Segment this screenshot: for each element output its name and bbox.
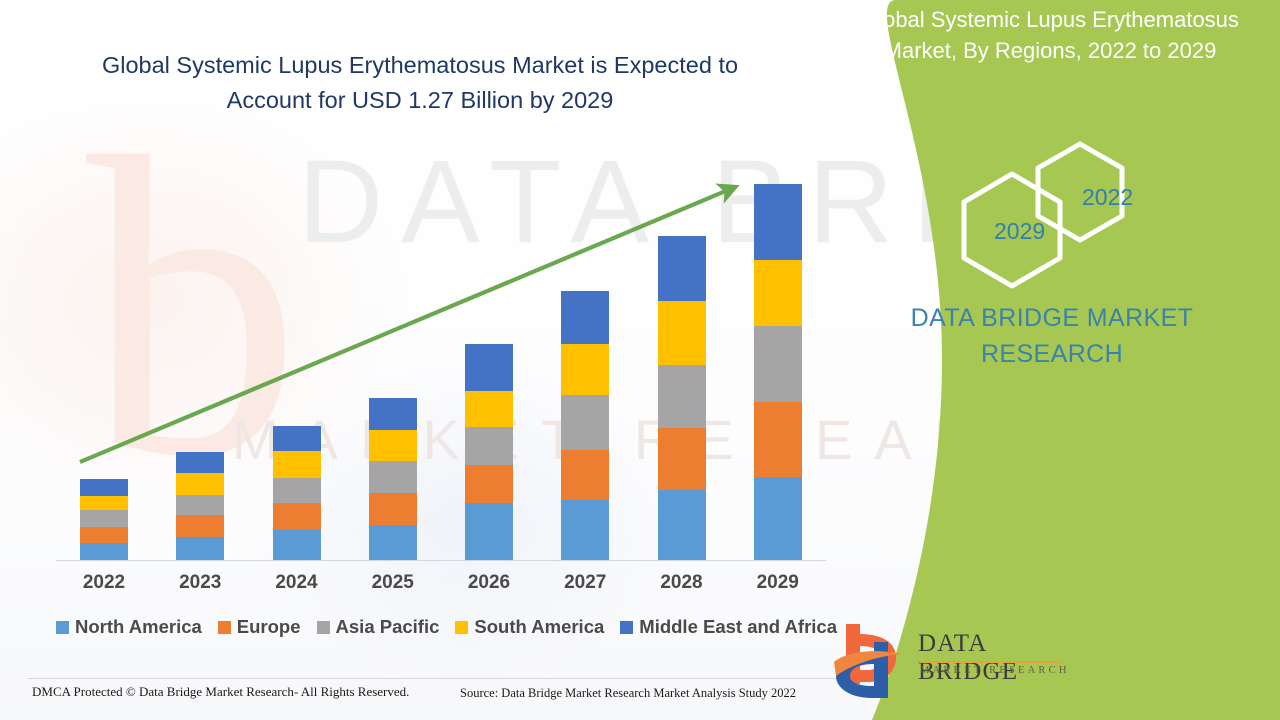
legend-swatch-icon (218, 621, 231, 634)
bar-segment (80, 510, 128, 527)
page-title: Global Systemic Lupus Erythematosus Mark… (62, 48, 778, 118)
legend-item[interactable]: Asia Pacific (317, 616, 440, 638)
bar-segment (658, 428, 706, 490)
hexagon-group: 2022 2029 (960, 140, 1190, 300)
bar-2022 (80, 479, 128, 560)
company-logo: DATA BRIDGE MARKET RESEARCH (830, 620, 1070, 706)
legend-item[interactable]: Europe (218, 616, 301, 638)
bar-segment (176, 495, 224, 515)
bar-segment (658, 301, 706, 364)
bar-segment (561, 344, 609, 394)
bar-2024 (273, 426, 321, 560)
footer-source: Source: Data Bridge Market Research Mark… (460, 686, 796, 701)
bar-2028 (658, 236, 706, 560)
logo-divider (920, 661, 1062, 663)
bar-segment (561, 291, 609, 344)
bar-segment (561, 450, 609, 500)
x-axis-label-2022: 2022 (56, 572, 152, 594)
x-axis-label-2026: 2026 (441, 572, 537, 594)
legend-item[interactable]: Middle East and Africa (620, 616, 837, 638)
bar-segment (80, 496, 128, 510)
x-axis-label-2029: 2029 (730, 572, 826, 594)
x-axis-label-2024: 2024 (249, 572, 345, 594)
legend-label: Europe (237, 616, 301, 638)
bar-segment (754, 477, 802, 560)
bar-segment (176, 515, 224, 537)
bar-segment (273, 451, 321, 478)
legend-swatch-icon (317, 621, 330, 634)
legend-item[interactable]: North America (56, 616, 202, 638)
bar-segment (176, 537, 224, 560)
hexagon-label-end: 2029 (994, 218, 1045, 245)
bar-segment (658, 365, 706, 428)
x-axis-label-2023: 2023 (152, 572, 248, 594)
bar-segment (369, 398, 417, 430)
bar-segment (80, 479, 128, 496)
brand-name: DATA BRIDGE MARKET RESEARCH (842, 300, 1262, 372)
bar-segment (80, 543, 128, 560)
x-axis-label-2025: 2025 (345, 572, 441, 594)
bar-segment (754, 402, 802, 477)
bar-segment (658, 490, 706, 560)
bar-segment (465, 427, 513, 465)
bar-segment (465, 391, 513, 427)
bar-segment (369, 493, 417, 525)
bar-segment (658, 236, 706, 301)
x-axis-labels: 20222023202420252026202720282029 (56, 572, 826, 600)
bar-segment (465, 465, 513, 503)
brand-panel: Global Systemic Lupus Erythematosus Mark… (820, 0, 1280, 720)
logo-wordmark: DATA BRIDGE (918, 630, 1070, 686)
legend-label: Asia Pacific (336, 616, 440, 638)
bar-2027 (561, 291, 609, 560)
bar-segment (369, 525, 417, 560)
brand-panel-title: Global Systemic Lupus Erythematosus Mark… (826, 4, 1274, 66)
legend-swatch-icon (620, 621, 633, 634)
hexagon-label-start: 2022 (1082, 184, 1133, 211)
legend-swatch-icon (56, 621, 69, 634)
chart-legend: North AmericaEuropeAsia PacificSouth Ame… (56, 616, 836, 638)
bar-2029 (754, 184, 802, 560)
legend-label: South America (474, 616, 604, 638)
legend-label: North America (75, 616, 202, 638)
bar-segment (465, 344, 513, 390)
bar-segment (561, 395, 609, 450)
legend-swatch-icon (455, 621, 468, 634)
bar-segment (176, 452, 224, 473)
footer-copyright: DMCA Protected © Data Bridge Market Rese… (32, 684, 409, 700)
bar-segment (754, 326, 802, 401)
stacked-bars (56, 150, 826, 561)
footer-divider (28, 678, 840, 679)
x-axis-label-2028: 2028 (634, 572, 730, 594)
bar-segment (273, 478, 321, 503)
logo-tagline: MARKET RESEARCH (920, 665, 1070, 676)
bar-2026 (465, 344, 513, 560)
data-bridge-mark-icon (830, 620, 920, 702)
x-axis-label-2027: 2027 (537, 572, 633, 594)
bar-segment (369, 430, 417, 461)
legend-item[interactable]: South America (455, 616, 604, 638)
bar-segment (754, 184, 802, 260)
bar-2025 (369, 398, 417, 560)
bar-2023 (176, 452, 224, 560)
bar-segment (80, 527, 128, 543)
bar-segment (754, 260, 802, 326)
plot-area (56, 150, 826, 561)
x-axis-line (56, 560, 826, 561)
bar-segment (176, 473, 224, 495)
legend-label: Middle East and Africa (639, 616, 837, 638)
bar-segment (273, 503, 321, 530)
bar-segment (273, 426, 321, 451)
bar-segment (273, 530, 321, 560)
bar-segment (561, 500, 609, 560)
infographic-page: b DATA BRIDGE MARKET RESEARCH Global Sys… (0, 0, 1280, 720)
bar-segment (369, 461, 417, 493)
bar-segment (465, 503, 513, 560)
